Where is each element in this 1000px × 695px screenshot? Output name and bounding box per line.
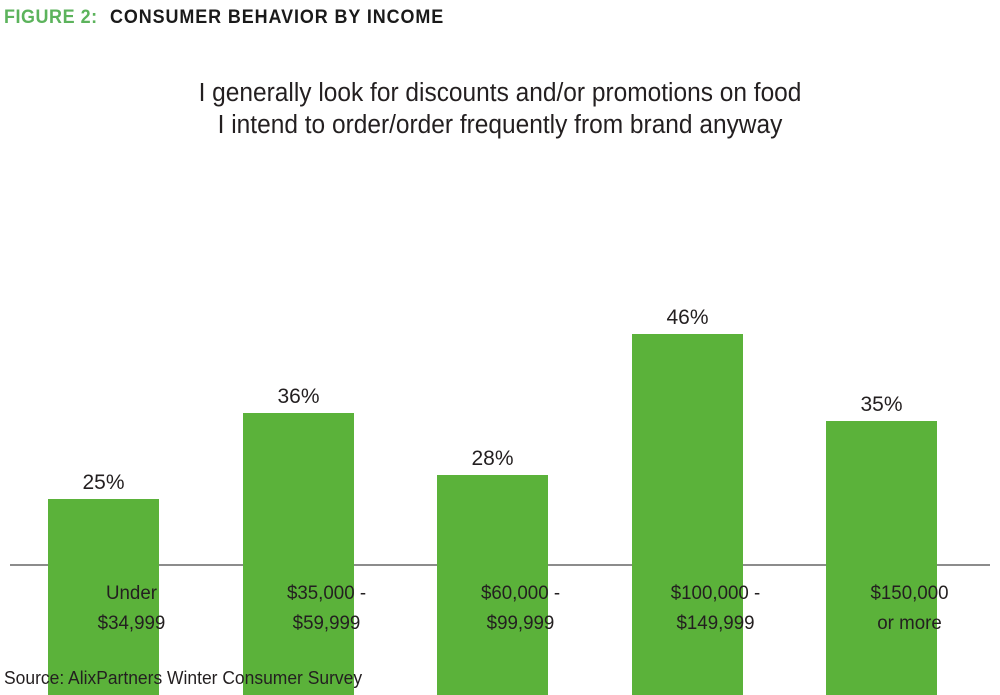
x-axis-category-label-line-2: $59,999: [246, 608, 406, 638]
x-axis-category-label-line-1: $35,000 -: [246, 578, 406, 608]
x-axis-category-label: $60,000 - $99,999: [437, 578, 604, 638]
x-axis-category-label: Under $34,999: [48, 578, 215, 638]
bar-value-label: 25%: [28, 471, 179, 495]
x-axis-category-label-line-2: $99,999: [440, 608, 600, 638]
bar-value-label: 36%: [223, 385, 374, 409]
bar[interactable]: [826, 421, 937, 695]
x-axis-category-label-line-1: $100,000 -: [635, 578, 795, 608]
x-axis-category-label: $150,000 or more: [826, 578, 993, 638]
x-axis-category-label: $100,000 - $149,999: [632, 578, 799, 638]
x-axis-category-label-line-2: $34,999: [51, 608, 211, 638]
bar-value-label: 35%: [806, 393, 957, 417]
x-axis-category-label-line-2: $149,999: [635, 608, 795, 638]
bar-value-label: 46%: [612, 306, 763, 330]
x-axis-category-label-line-1: $150,000: [829, 578, 989, 608]
source-note: Source: AlixPartners Winter Consumer Sur…: [4, 668, 362, 689]
bar[interactable]: [632, 334, 743, 695]
figure-panel: FIGURE 2: CONSUMER BEHAVIOR BY INCOME I …: [0, 0, 1000, 695]
x-axis-category-label-line-2: or more: [829, 608, 989, 638]
x-axis-category-label-line-1: $60,000 -: [440, 578, 600, 608]
bar-value-label: 28%: [417, 447, 568, 471]
bar-chart-plot-area: 25% Under $34,999 36% $35,000 - $59,999 …: [0, 0, 1000, 695]
bar[interactable]: [243, 413, 354, 695]
x-axis-category-label-line-1: Under: [51, 578, 211, 608]
x-axis-category-label: $35,000 - $59,999: [243, 578, 410, 638]
